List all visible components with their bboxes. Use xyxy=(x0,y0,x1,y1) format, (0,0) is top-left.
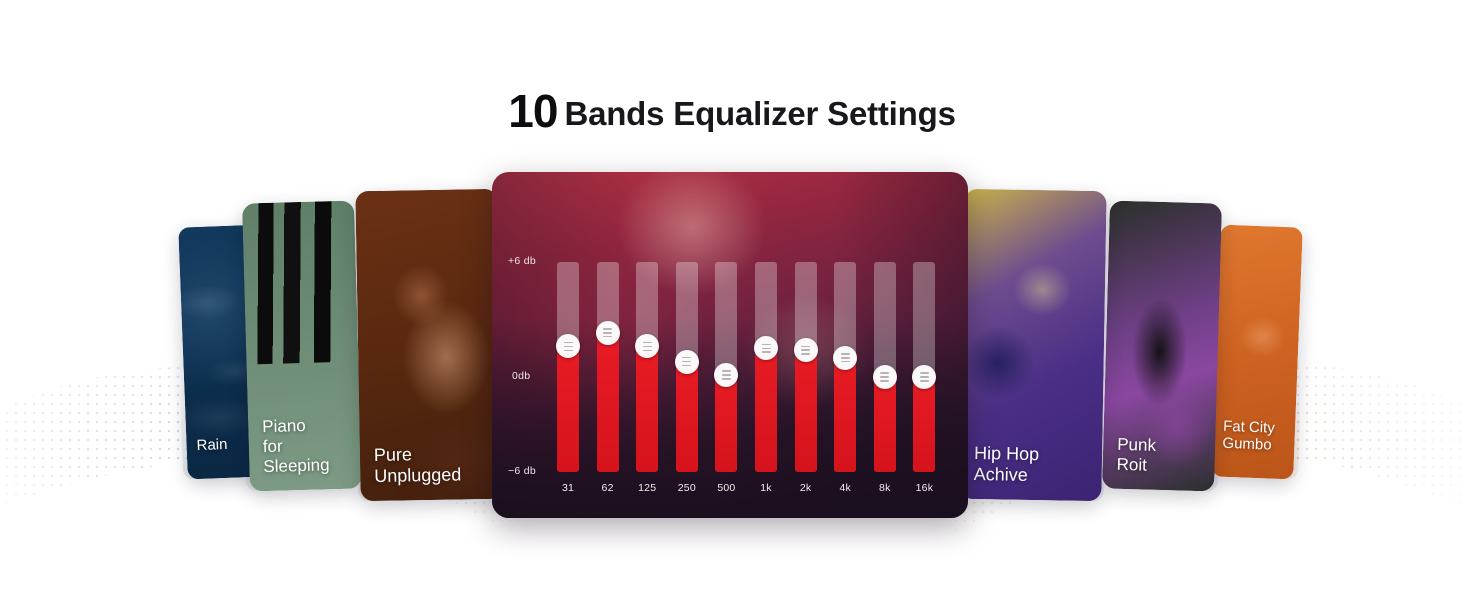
equalizer-band[interactable]: 8k xyxy=(874,172,896,518)
band-slider-fill xyxy=(597,333,619,472)
band-slider-fill xyxy=(636,346,658,472)
band-frequency-label: 62 xyxy=(588,482,628,494)
band-frequency-label: 31 xyxy=(548,482,588,494)
band-slider-fill xyxy=(874,377,896,472)
preset-card-hip-hop-achive[interactable]: Hip Hop Achive xyxy=(959,189,1106,501)
page-title-text: Bands Equalizer Settings xyxy=(564,95,955,132)
band-slider-fill xyxy=(834,358,856,472)
band-frequency-label: 16k xyxy=(904,482,944,494)
equalizer-panel: +6 db0db−6 db31621252505001k2k4k8k16k xyxy=(492,172,968,518)
preset-card-label: Piano for Sleeping xyxy=(262,415,352,478)
band-slider-fill xyxy=(676,362,698,472)
band-slider-fill xyxy=(913,377,935,472)
band-slider-knob[interactable] xyxy=(833,346,857,370)
band-slider-fill xyxy=(795,350,817,472)
preset-card-punk-roit[interactable]: Punk Roit xyxy=(1102,200,1222,491)
preset-card-label: Punk Roit xyxy=(1116,435,1205,478)
band-slider-knob[interactable] xyxy=(873,365,897,389)
band-slider-knob[interactable] xyxy=(675,350,699,374)
equalizer-band[interactable]: 62 xyxy=(597,172,619,518)
band-frequency-label: 500 xyxy=(706,482,746,494)
band-frequency-label: 125 xyxy=(627,482,667,494)
band-frequency-label: 1k xyxy=(746,482,786,494)
equalizer-promo-stage: 10Bands Equalizer Settings Rain Piano fo… xyxy=(0,0,1464,600)
band-slider-fill xyxy=(755,348,777,472)
band-slider-knob[interactable] xyxy=(794,338,818,362)
band-frequency-label: 4k xyxy=(825,482,865,494)
equalizer-band[interactable]: 2k xyxy=(795,172,817,518)
equalizer-band[interactable]: 125 xyxy=(636,172,658,518)
preset-card-piano[interactable]: Piano for Sleeping xyxy=(242,200,362,491)
equalizer-band[interactable]: 500 xyxy=(715,172,737,518)
preset-card-pure-unplugged[interactable]: Pure Unplugged xyxy=(355,189,502,501)
equalizer-band[interactable]: 250 xyxy=(676,172,698,518)
preset-card-label: Fat City Gumbo xyxy=(1222,417,1285,455)
page-title-number: 10 xyxy=(508,85,557,137)
band-slider-fill xyxy=(715,375,737,472)
equalizer-band[interactable]: 16k xyxy=(913,172,935,518)
db-scale-label: −6 db xyxy=(508,465,536,477)
preset-card-label: Pure Unplugged xyxy=(374,442,493,487)
band-frequency-label: 8k xyxy=(865,482,905,494)
band-slider-knob[interactable] xyxy=(596,321,620,345)
preset-card-label: Hip Hop Achive xyxy=(974,443,1093,488)
page-title: 10Bands Equalizer Settings xyxy=(0,84,1464,138)
band-slider-fill xyxy=(557,346,579,472)
db-scale-label: +6 db xyxy=(508,255,536,267)
equalizer-band[interactable]: 1k xyxy=(755,172,777,518)
equalizer-controls: +6 db0db−6 db31621252505001k2k4k8k16k xyxy=(492,172,968,518)
equalizer-band[interactable]: 4k xyxy=(834,172,856,518)
equalizer-band[interactable]: 31 xyxy=(557,172,579,518)
band-frequency-label: 250 xyxy=(667,482,707,494)
band-frequency-label: 2k xyxy=(786,482,826,494)
db-scale-label: 0db xyxy=(512,370,530,382)
preset-card-fat-city-gumbo[interactable]: Fat City Gumbo xyxy=(1211,225,1303,480)
